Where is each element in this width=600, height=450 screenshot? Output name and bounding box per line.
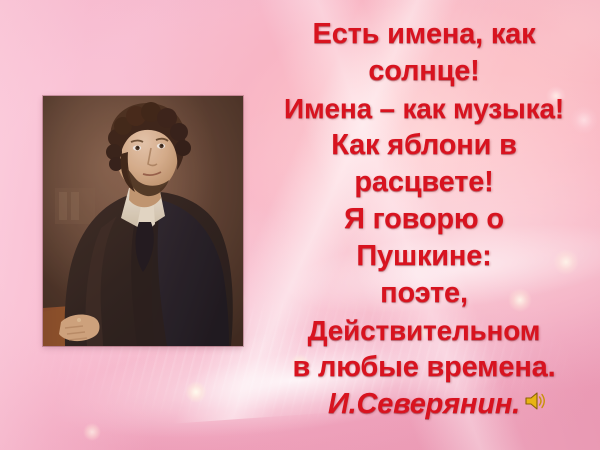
portrait-artwork [43, 96, 243, 346]
verse-line-7: Пушкине: [252, 238, 596, 275]
verse-text-block: Есть имена, как солнце! Имена – как музы… [252, 16, 596, 423]
verse-line-9: Действительном [252, 312, 596, 349]
verse-line-8: поэте, [252, 275, 596, 312]
verse-line-6: Я говорю о [252, 201, 596, 238]
verse-line-4: Как яблони в [252, 127, 596, 164]
verse-line-1: Есть имена, как [252, 16, 596, 53]
pushkin-portrait [43, 96, 243, 346]
verse-line-3: Имена – как музыка! [252, 90, 596, 127]
presentation-slide: Есть имена, как солнце! Имена – как музы… [0, 0, 600, 450]
speaker-icon[interactable] [524, 390, 548, 412]
verse-line-10: в любые времена. [252, 349, 596, 386]
verse-line-2: солнце! [252, 53, 596, 90]
verse-line-5: расцвете! [252, 164, 596, 201]
